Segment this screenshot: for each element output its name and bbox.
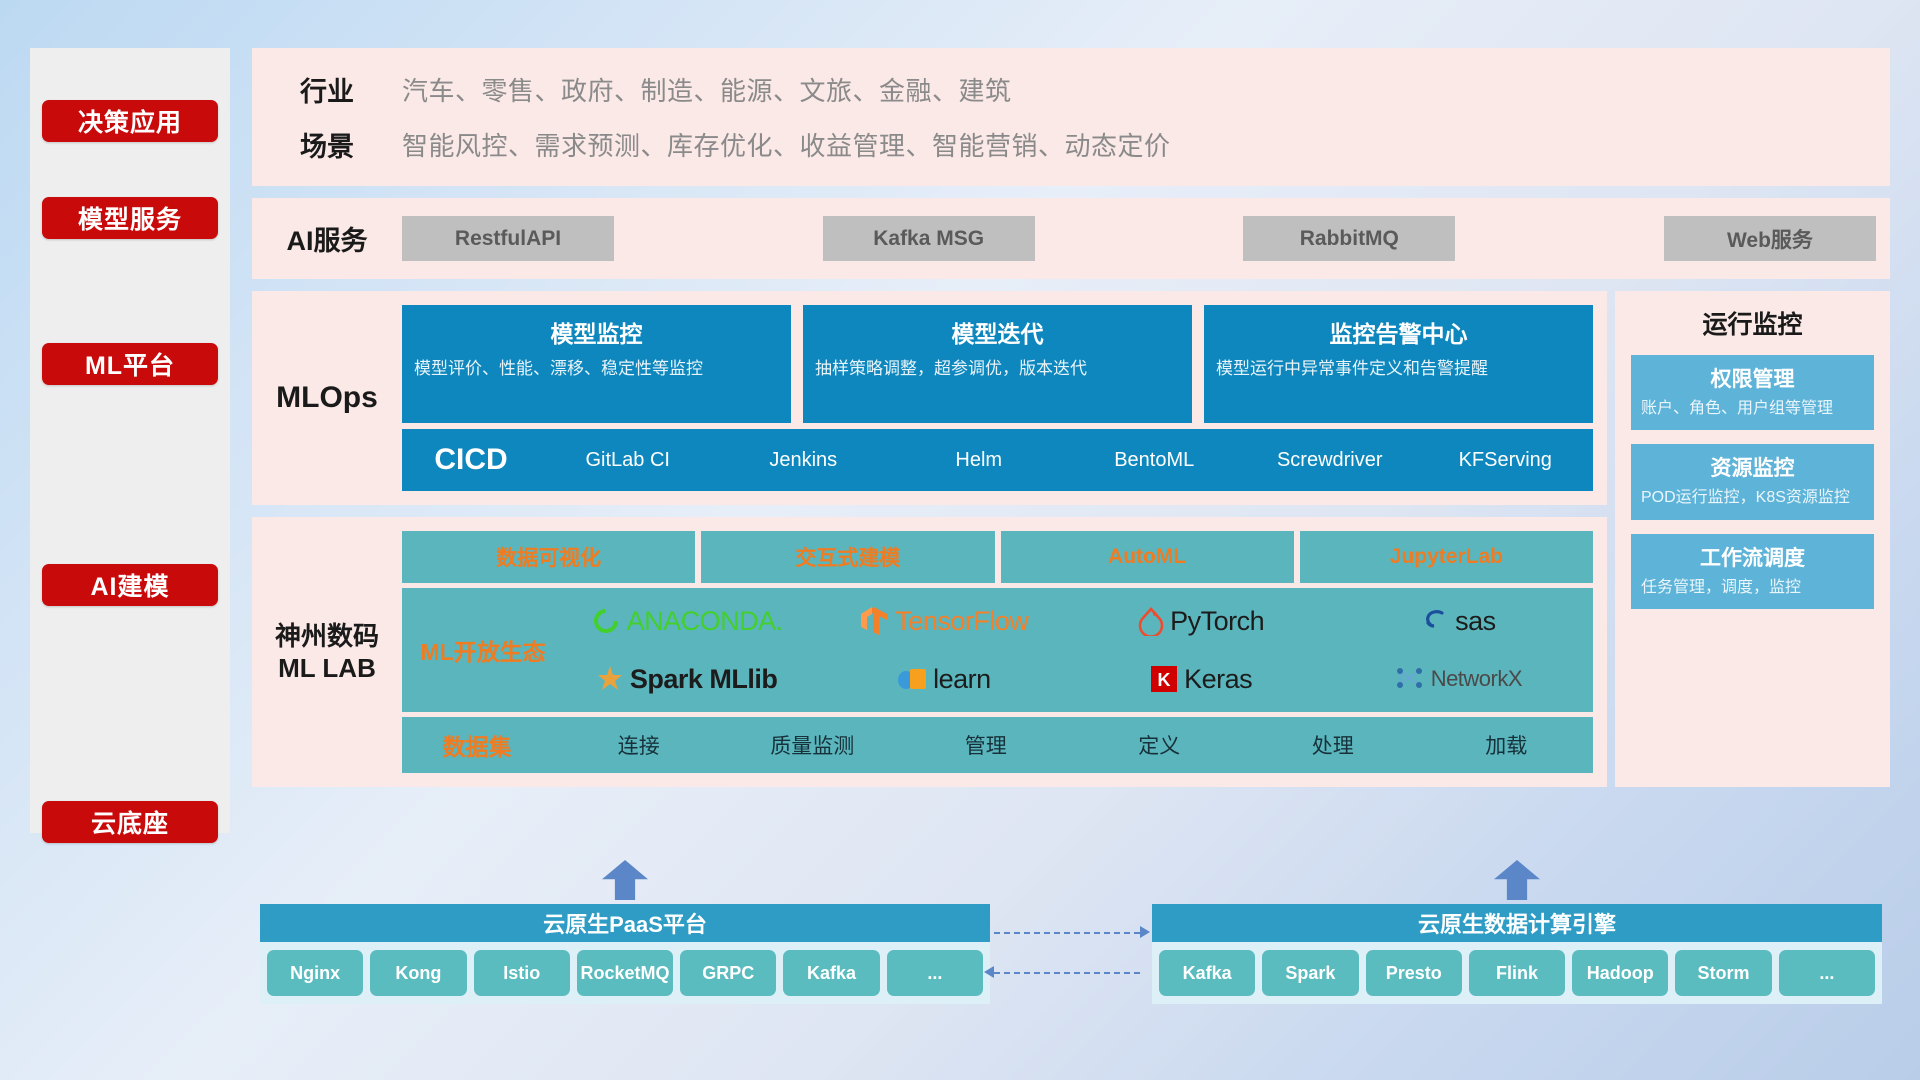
section-model-service: AI服务 RestfulAPI Kafka MSG RabbitMQ Web服务 bbox=[252, 198, 1890, 279]
scenario-row: 场景 智能风控、需求预测、库存优化、收益管理、智能营销、动态定价 bbox=[252, 125, 1890, 164]
cloud-paas-group: 云原生PaaS平台 Nginx Kong Istio RocketMQ GRPC… bbox=[260, 860, 990, 1004]
dataset-action-connect[interactable]: 连接 bbox=[552, 730, 726, 760]
rail-label: AI建模 bbox=[90, 567, 169, 603]
mlops-card-list: 模型监控 模型评价、性能、漂移、稳定性等监控 模型迭代 抽样策略调整，超参调优，… bbox=[402, 305, 1593, 423]
ml-ecosystem-label: ML开放生态 bbox=[408, 633, 558, 667]
svg-text:K: K bbox=[1158, 670, 1171, 690]
logo-label: NetworkX bbox=[1431, 666, 1522, 692]
logo-label: PyTorch bbox=[1170, 606, 1264, 637]
engine-chip-more[interactable]: ... bbox=[1779, 950, 1875, 996]
card-desc: 模型运行中异常事件定义和告警提醒 bbox=[1216, 357, 1581, 382]
monitor-card-resource[interactable]: 资源监控 POD运行监控，K8S资源监控 bbox=[1631, 444, 1874, 519]
sas-icon bbox=[1421, 606, 1449, 636]
engine-chip-hadoop[interactable]: Hadoop bbox=[1572, 950, 1668, 996]
rail-label: 决策应用 bbox=[78, 103, 182, 139]
cicd-tool-jenkins[interactable]: Jenkins bbox=[716, 450, 892, 471]
connector-line-left bbox=[994, 972, 1140, 974]
engine-chip-flink[interactable]: Flink bbox=[1469, 950, 1565, 996]
logo-label: Keras bbox=[1184, 664, 1252, 695]
ml-lab-label-line2: ML LAB bbox=[278, 652, 376, 685]
paas-chip-rocketmq[interactable]: RocketMQ bbox=[577, 950, 673, 996]
service-chip-rabbitmq[interactable]: RabbitMQ bbox=[1243, 216, 1455, 261]
mlops-card-model-iteration[interactable]: 模型迭代 抽样策略调整，超参调优，版本迭代 bbox=[803, 305, 1192, 423]
dataset-row: 数据集 连接 质量监测 管理 定义 处理 加载 bbox=[402, 717, 1593, 773]
logo-label: learn bbox=[933, 664, 991, 695]
rail-label: ML平台 bbox=[85, 346, 175, 382]
mlops-card-model-monitoring[interactable]: 模型监控 模型评价、性能、漂移、稳定性等监控 bbox=[402, 305, 791, 423]
connector-line-right bbox=[994, 932, 1140, 934]
paas-chip-more[interactable]: ... bbox=[887, 950, 983, 996]
card-title: 模型迭代 bbox=[815, 315, 1180, 349]
engine-chip-presto[interactable]: Presto bbox=[1366, 950, 1462, 996]
logo-tensorflow: TensorFlow bbox=[815, 605, 1072, 637]
architecture-main: 行业 汽车、零售、政府、制造、能源、文旅、金融、建筑 场景 智能风控、需求预测、… bbox=[252, 48, 1890, 787]
logo-pytorch: PyTorch bbox=[1073, 606, 1330, 637]
rail-label: 模型服务 bbox=[78, 200, 182, 236]
ml-lab-label-line1: 神州数码 bbox=[275, 620, 379, 653]
cicd-bar: CICD GitLab CI Jenkins Helm BentoML Scre… bbox=[402, 429, 1593, 491]
card-title: 工作流调度 bbox=[1641, 542, 1864, 572]
monitor-card-permission[interactable]: 权限管理 账户、角色、用户组等管理 bbox=[1631, 355, 1874, 430]
logo-label: sas bbox=[1455, 606, 1496, 637]
mlops-content: 模型监控 模型评价、性能、漂移、稳定性等监控 模型迭代 抽样策略调整，超参调优，… bbox=[402, 305, 1593, 491]
paas-chip-kafka[interactable]: Kafka bbox=[783, 950, 879, 996]
ml-tool-list: 数据可视化 交互式建模 AutoML JupyterLab bbox=[402, 531, 1593, 583]
apache-spark-icon bbox=[596, 665, 624, 693]
platform-and-monitor-wrap: MLOps 模型监控 模型评价、性能、漂移、稳定性等监控 模型迭代 抽样策略调整… bbox=[252, 291, 1890, 787]
ml-lab-label: 神州数码 ML LAB bbox=[252, 531, 402, 773]
section-decision-application: 行业 汽车、零售、政府、制造、能源、文旅、金融、建筑 场景 智能风控、需求预测、… bbox=[252, 48, 1890, 186]
card-desc: 模型评价、性能、漂移、稳定性等监控 bbox=[414, 357, 779, 382]
cloud-paas-header: 云原生PaaS平台 bbox=[260, 904, 990, 942]
platform-column: MLOps 模型监控 模型评价、性能、漂移、稳定性等监控 模型迭代 抽样策略调整… bbox=[252, 291, 1607, 787]
cicd-tool-screwdriver[interactable]: Screwdriver bbox=[1242, 450, 1418, 471]
logo-label: TensorFlow bbox=[895, 606, 1028, 637]
dataset-action-manage[interactable]: 管理 bbox=[899, 730, 1073, 760]
cloud-engine-group: 云原生数据计算引擎 Kafka Spark Presto Flink Hadoo… bbox=[1152, 860, 1882, 1004]
paas-chip-kong[interactable]: Kong bbox=[370, 950, 466, 996]
ml-ecosystem-logo-grid: ANACONDA. TensorFlow bbox=[558, 592, 1587, 708]
service-chip-restfulapi[interactable]: RestfulAPI bbox=[402, 216, 614, 261]
rail-item-ai-modeling[interactable]: AI建模 bbox=[42, 564, 218, 606]
band-divider bbox=[252, 279, 1890, 291]
connector-arrow-left-icon bbox=[984, 966, 994, 978]
cicd-tool-bentoml[interactable]: BentoML bbox=[1067, 450, 1243, 471]
card-title: 资源监控 bbox=[1641, 452, 1864, 482]
engine-chip-storm[interactable]: Storm bbox=[1675, 950, 1771, 996]
tensorflow-icon bbox=[859, 605, 889, 637]
card-desc: 账户、角色、用户组等管理 bbox=[1641, 398, 1864, 420]
dataset-action-list: 连接 质量监测 管理 定义 处理 加载 bbox=[552, 730, 1593, 760]
section-cloud-base: 云原生PaaS平台 Nginx Kong Istio RocketMQ GRPC… bbox=[252, 860, 1890, 1040]
card-title: 权限管理 bbox=[1641, 363, 1864, 393]
scikit-learn-icon bbox=[897, 666, 927, 692]
cicd-tool-kfserving[interactable]: KFServing bbox=[1418, 450, 1594, 471]
rail-item-decision[interactable]: 决策应用 bbox=[42, 100, 218, 142]
section-ml-platform: MLOps 模型监控 模型评价、性能、漂移、稳定性等监控 模型迭代 抽样策略调整… bbox=[252, 291, 1607, 505]
arrow-up-icon bbox=[602, 860, 648, 900]
card-desc: 抽样策略调整，超参调优，版本迭代 bbox=[815, 357, 1180, 382]
band-divider bbox=[252, 505, 1607, 517]
ml-tool-interactive-modeling[interactable]: 交互式建模 bbox=[701, 531, 994, 583]
industry-label: 行业 bbox=[252, 70, 402, 109]
cicd-tool-gitlab-ci[interactable]: GitLab CI bbox=[540, 450, 716, 471]
paas-chip-nginx[interactable]: Nginx bbox=[267, 950, 363, 996]
ml-tool-data-visualization[interactable]: 数据可视化 bbox=[402, 531, 695, 583]
logo-anaconda: ANACONDA. bbox=[558, 606, 815, 637]
engine-chip-kafka[interactable]: Kafka bbox=[1159, 950, 1255, 996]
ai-service-list: RestfulAPI Kafka MSG RabbitMQ Web服务 bbox=[402, 216, 1890, 261]
ml-ecosystem-row: ML开放生态 ANACONDA. bbox=[402, 588, 1593, 712]
ml-tool-jupyterlab[interactable]: JupyterLab bbox=[1300, 531, 1593, 583]
ai-service-label: AI服务 bbox=[252, 219, 402, 258]
logo-spark-mllib: Spark MLlib bbox=[558, 664, 815, 695]
connector-arrow-right-icon bbox=[1140, 926, 1150, 938]
logo-sas: sas bbox=[1330, 606, 1587, 637]
paas-chip-istio[interactable]: Istio bbox=[474, 950, 570, 996]
monitor-card-workflow[interactable]: 工作流调度 任务管理，调度，监控 bbox=[1631, 534, 1874, 609]
cloud-connectors bbox=[994, 916, 1154, 990]
card-desc: 任务管理，调度，监控 bbox=[1641, 577, 1864, 599]
card-title: 监控告警中心 bbox=[1216, 315, 1581, 349]
card-desc: POD运行监控，K8S资源监控 bbox=[1641, 487, 1864, 509]
rail-item-cloud-base[interactable]: 云底座 bbox=[42, 801, 218, 843]
rail-label: 云底座 bbox=[91, 804, 169, 840]
industry-row: 行业 汽车、零售、政府、制造、能源、文旅、金融、建筑 bbox=[252, 70, 1890, 109]
monitor-title: 运行监控 bbox=[1631, 305, 1874, 341]
logo-networkx: NetworkX bbox=[1330, 665, 1587, 693]
rail-item-model-service[interactable]: 模型服务 bbox=[42, 197, 218, 239]
pytorch-icon bbox=[1138, 606, 1164, 636]
cloud-paas-chip-list: Nginx Kong Istio RocketMQ GRPC Kafka ... bbox=[260, 942, 990, 1004]
dataset-action-quality[interactable]: 质量监测 bbox=[726, 730, 900, 760]
anaconda-icon bbox=[591, 606, 621, 636]
keras-icon: K bbox=[1150, 665, 1178, 693]
dataset-action-load[interactable]: 加载 bbox=[1420, 730, 1594, 760]
section-ai-modeling: 神州数码 ML LAB 数据可视化 交互式建模 AutoML JupyterLa… bbox=[252, 517, 1607, 787]
industry-value: 汽车、零售、政府、制造、能源、文旅、金融、建筑 bbox=[402, 71, 1012, 108]
dataset-action-define[interactable]: 定义 bbox=[1073, 730, 1247, 760]
scenario-label: 场景 bbox=[252, 125, 402, 164]
networkx-icon bbox=[1395, 665, 1425, 693]
logo-keras: K Keras bbox=[1073, 664, 1330, 695]
cloud-engine-header: 云原生数据计算引擎 bbox=[1152, 904, 1882, 942]
mlops-card-alert-center[interactable]: 监控告警中心 模型运行中异常事件定义和告警提醒 bbox=[1204, 305, 1593, 423]
ml-lab-content: 数据可视化 交互式建模 AutoML JupyterLab ML开放生态 bbox=[402, 531, 1593, 773]
logo-label: Spark MLlib bbox=[630, 664, 778, 695]
service-chip-web[interactable]: Web服务 bbox=[1664, 216, 1876, 261]
dataset-label: 数据集 bbox=[402, 728, 552, 762]
cloud-engine-chip-list: Kafka Spark Presto Flink Hadoop Storm ..… bbox=[1152, 942, 1882, 1004]
logo-scikit-learn: learn bbox=[815, 664, 1072, 695]
rail-item-ml-platform[interactable]: ML平台 bbox=[42, 343, 218, 385]
dataset-action-process[interactable]: 处理 bbox=[1246, 730, 1420, 760]
band-divider bbox=[252, 186, 1890, 198]
cicd-tool-list: GitLab CI Jenkins Helm BentoML Screwdriv… bbox=[540, 450, 1593, 471]
service-chip-kafka-msg[interactable]: Kafka MSG bbox=[823, 216, 1035, 261]
logo-label: ANACONDA. bbox=[627, 606, 783, 637]
cicd-title: CICD bbox=[402, 443, 540, 477]
engine-chip-spark[interactable]: Spark bbox=[1262, 950, 1358, 996]
ml-tool-automl[interactable]: AutoML bbox=[1001, 531, 1294, 583]
mlops-label: MLOps bbox=[252, 305, 402, 491]
section-runtime-monitoring: 运行监控 权限管理 账户、角色、用户组等管理 资源监控 POD运行监控，K8S资… bbox=[1615, 291, 1890, 787]
layer-rail: 决策应用 模型服务 ML平台 AI建模 云底座 bbox=[30, 48, 230, 833]
scenario-value: 智能风控、需求预测、库存优化、收益管理、智能营销、动态定价 bbox=[402, 126, 1171, 163]
card-title: 模型监控 bbox=[414, 315, 779, 349]
paas-chip-grpc[interactable]: GRPC bbox=[680, 950, 776, 996]
arrow-up-icon bbox=[1494, 860, 1540, 900]
cicd-tool-helm[interactable]: Helm bbox=[891, 450, 1067, 471]
